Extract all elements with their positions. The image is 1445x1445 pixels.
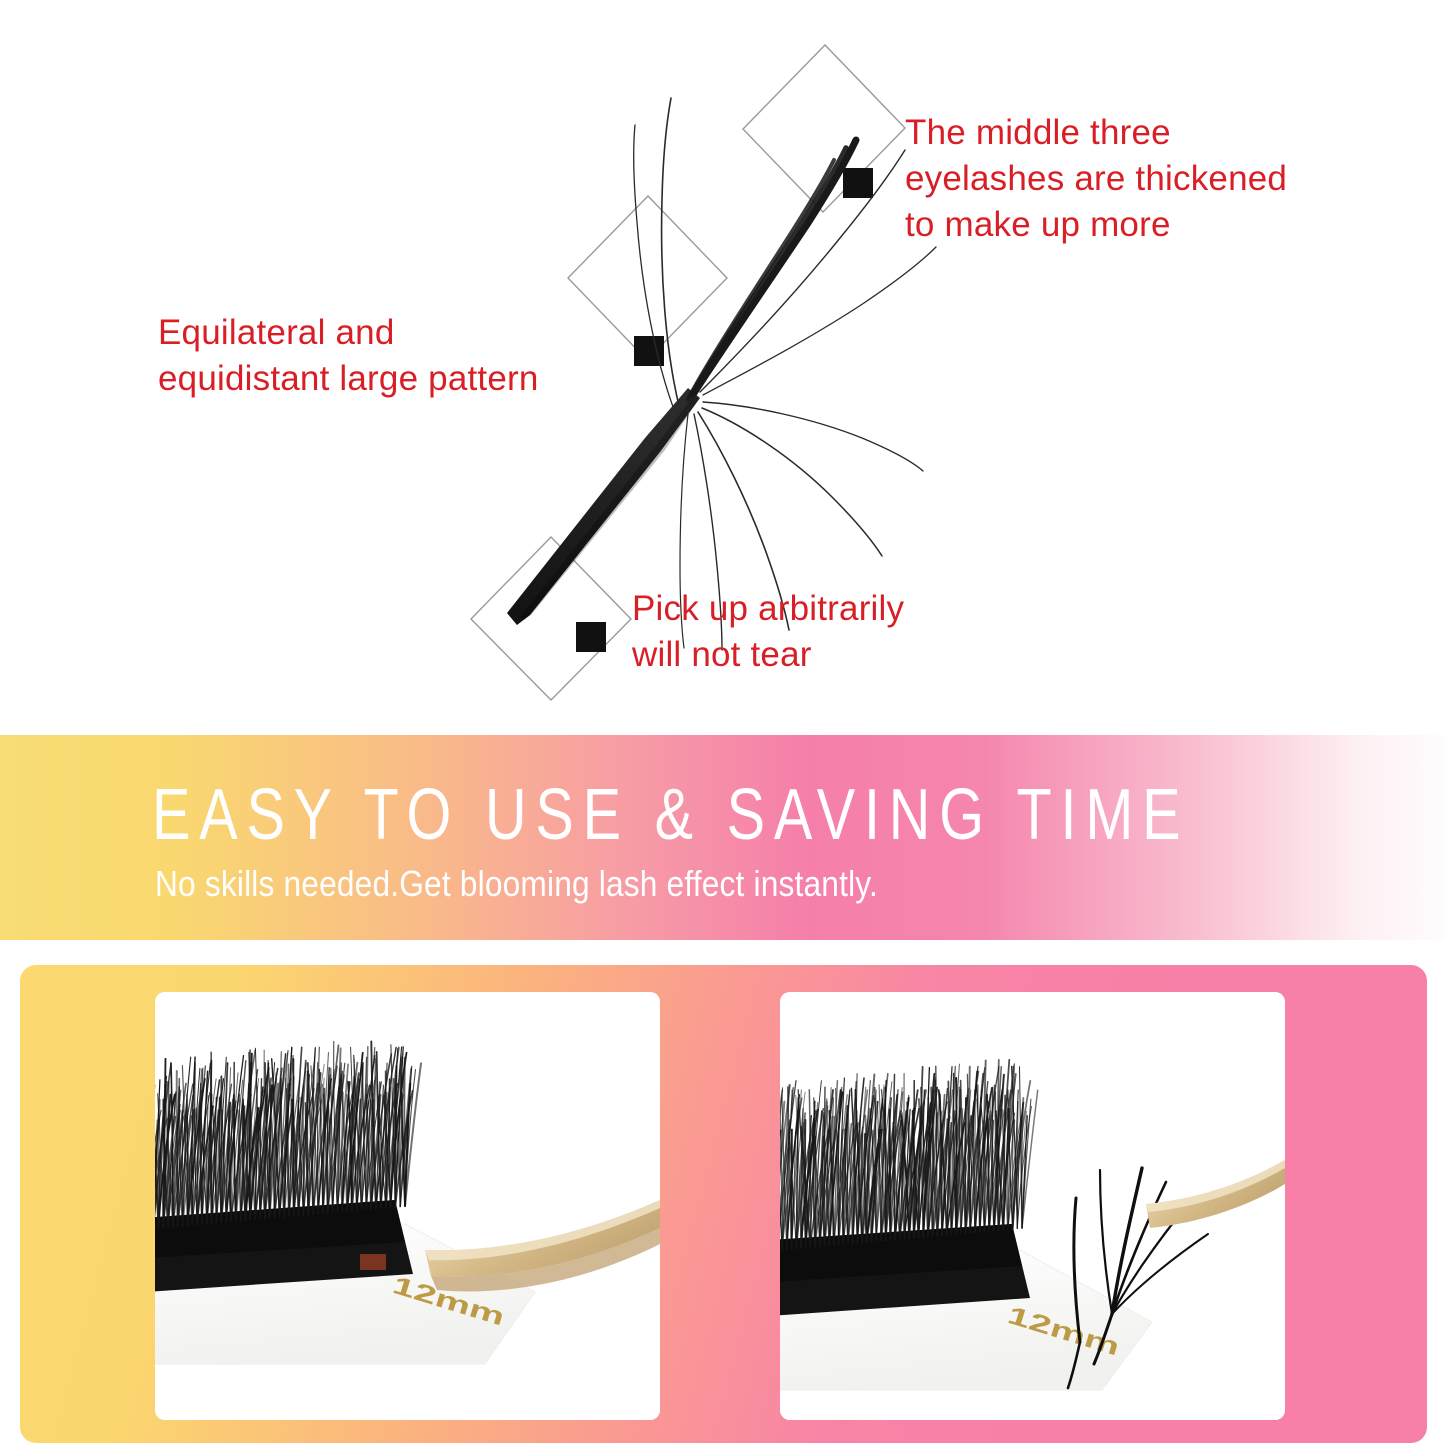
diamond-outline-middle	[568, 196, 727, 360]
marker-square-top	[843, 168, 873, 198]
product-photos-section: 12mm	[0, 940, 1445, 1445]
product-photo-right: 12mm	[780, 992, 1285, 1420]
product-photo-left: 12mm	[155, 992, 660, 1420]
lash-strand-thick-group	[688, 140, 856, 399]
infographic-page: The middle three eyelashes are thickened…	[0, 0, 1445, 1445]
callout-equilateral-text: Equilateral and equidistant large patter…	[158, 310, 539, 402]
lash-tray-detached-fan-illustration: 12mm	[780, 992, 1285, 1420]
easy-to-use-banner: EASY TO USE & SAVING TIME No skills need…	[0, 735, 1445, 940]
feature-diagram-section: The middle three eyelashes are thickened…	[0, 0, 1445, 735]
callout-middle-three-text: The middle three eyelashes are thickened…	[905, 110, 1287, 249]
banner-subtitle: No skills needed.Get blooming lash effec…	[155, 866, 878, 902]
lash-strand-thin-group	[634, 98, 936, 650]
banner-title: EASY TO USE & SAVING TIME	[152, 779, 1189, 851]
callout-pickup-text: Pick up arbitrarily will not tear	[632, 586, 904, 678]
lash-tray-tweezer-illustration: 12mm	[155, 992, 660, 1420]
gradient-photo-panel: 12mm	[20, 965, 1427, 1443]
marker-square-bottom	[576, 622, 606, 652]
